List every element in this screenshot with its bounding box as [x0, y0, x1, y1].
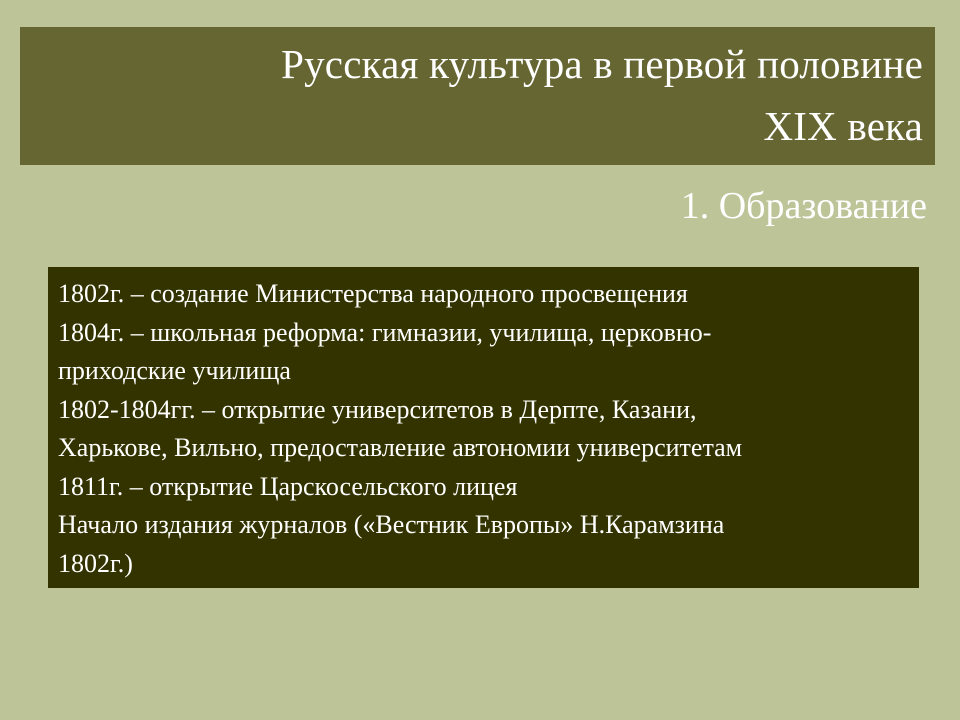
content-line: 1804г. – школьная реформа: гимназии, учи…	[58, 314, 909, 353]
content-line: 1802-1804гг. – открытие университетов в …	[58, 391, 909, 430]
content-box: 1802г. – создание Министерства народного…	[48, 267, 919, 588]
slide: Русская культура в первой половине XIX в…	[0, 0, 960, 720]
content-line: 1811г. – открытие Царскосельского лицея	[58, 468, 909, 507]
content-line: Начало издания журналов («Вестник Европы…	[58, 506, 909, 545]
slide-subtitle: 1. Образование	[20, 181, 927, 231]
content-line: приходские училища	[58, 352, 909, 391]
title-bar: Русская культура в первой половине XIX в…	[20, 27, 935, 165]
content-line: 1802г.)	[58, 545, 909, 584]
content-line: 1802г. – создание Министерства народного…	[58, 275, 909, 314]
slide-title-line-2: XIX века	[763, 95, 923, 157]
slide-title-line-1: Русская культура в первой половине	[281, 33, 923, 95]
content-line: Харькове, Вильно, предоставление автоном…	[58, 429, 909, 468]
